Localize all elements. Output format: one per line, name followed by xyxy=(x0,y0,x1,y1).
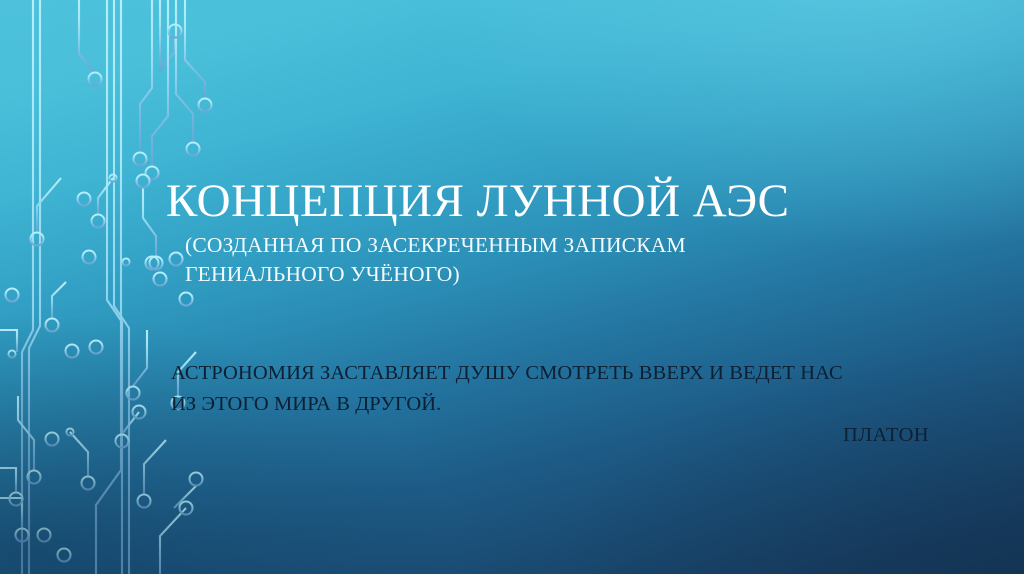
quote-text: АСТРОНОМИЯ ЗАСТАВЛЯЕТ ДУШУ СМОТРЕТЬ ВВЕР… xyxy=(171,358,871,420)
quote-block: АСТРОНОМИЯ ЗАСТАВЛЯЕТ ДУШУ СМОТРЕТЬ ВВЕР… xyxy=(171,358,871,420)
slide-text-layer: КОНЦЕПЦИЯ ЛУННОЙ АЭС (СОЗДАННАЯ ПО ЗАСЕК… xyxy=(0,0,1024,574)
presentation-slide: КОНЦЕПЦИЯ ЛУННОЙ АЭС (СОЗДАННАЯ ПО ЗАСЕК… xyxy=(0,0,1024,574)
quote-attribution: ПЛАТОН xyxy=(171,424,929,447)
title-block: КОНЦЕПЦИЯ ЛУННОЙ АЭС (СОЗДАННАЯ ПО ЗАСЕК… xyxy=(166,178,966,288)
page-title: КОНЦЕПЦИЯ ЛУННОЙ АЭС xyxy=(166,178,966,225)
page-subtitle: (СОЗДАННАЯ ПО ЗАСЕКРЕЧЕННЫМ ЗАПИСКАМ ГЕН… xyxy=(185,231,745,288)
